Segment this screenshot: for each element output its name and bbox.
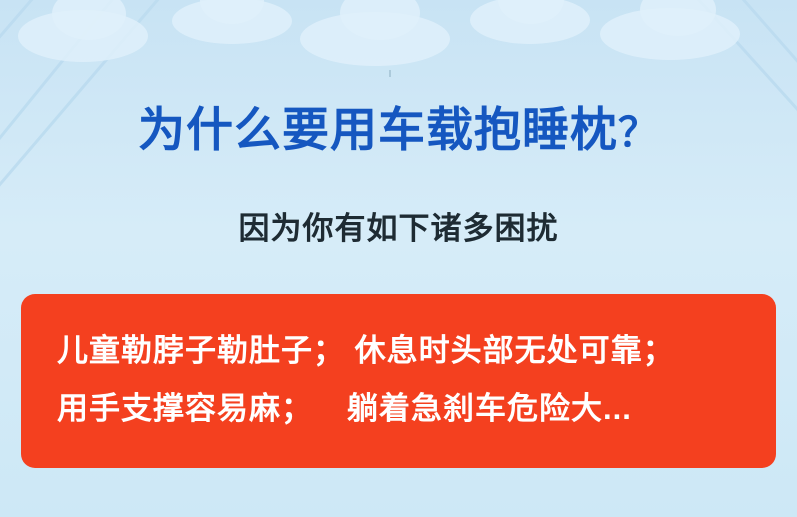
page-title-question-mark: ？ <box>618 111 659 155</box>
pain-point-line-2: 用手支撑容易麻；躺着急刹车危险大... <box>57 380 758 438</box>
pain-points-list: 儿童勒脖子勒肚子； 休息时头部无处可靠； 用手支撑容易麻；躺着急刹车危险大... <box>57 322 758 438</box>
page-title-text: 为什么要用车载抱睡枕 <box>138 103 618 156</box>
promo-banner: 为什么要用车载抱睡枕？ 因为你有如下诸多困扰 儿童勒脖子勒肚子； 休息时头部无处… <box>0 0 797 517</box>
pain-points-card: 儿童勒脖子勒肚子； 休息时头部无处可靠； 用手支撑容易麻；躺着急刹车危险大... <box>21 294 776 468</box>
pain-point-line-1: 儿童勒脖子勒肚子； 休息时头部无处可靠； <box>57 322 758 380</box>
pain-point-line-2-tail: 躺着急刹车危险大... <box>347 391 632 426</box>
pain-point-line-2-head: 用手支撑容易麻； <box>57 391 313 426</box>
page-subtitle: 因为你有如下诸多困扰 <box>0 203 797 248</box>
speck-mark <box>389 70 391 77</box>
page-title: 为什么要用车载抱睡枕？ <box>0 104 797 156</box>
